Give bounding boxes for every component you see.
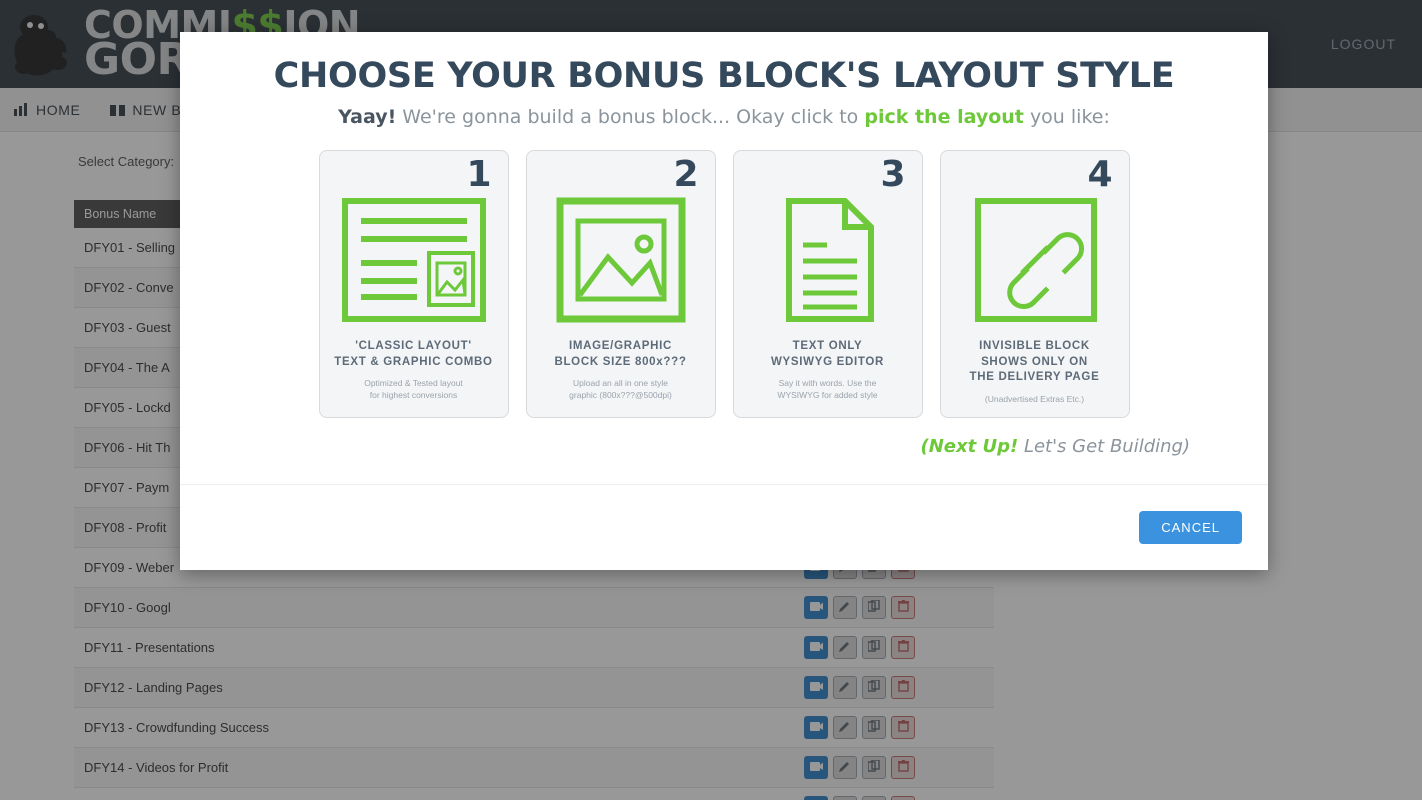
- card-title-line1: TEXT ONLY: [771, 339, 884, 355]
- subtitle-end: you like:: [1030, 106, 1110, 128]
- classic-layout-icon: [339, 195, 489, 325]
- modal-footer: CANCEL: [180, 484, 1268, 570]
- invisible-link-icon: [960, 195, 1110, 325]
- card-desc-line2: graphic (800x???@500dpi): [569, 390, 672, 402]
- card-number-3: 3: [880, 157, 905, 193]
- card-title-line2: TEXT & GRAPHIC COMBO: [334, 355, 492, 371]
- text-document-icon: [753, 195, 903, 325]
- card-desc-classic: Optimized & Tested layout for highest co…: [364, 378, 463, 402]
- card-desc-text-only: Say it with words. Use the WYSIWYG for a…: [777, 378, 877, 402]
- card-title-line2: BLOCK SIZE 800x???: [554, 355, 686, 371]
- next-up-green: (Next Up!: [921, 436, 1019, 457]
- layout-option-invisible-block[interactable]: 4 INVISIBLE BLOCK SHOWS ONLY ON THE DELI…: [940, 150, 1130, 418]
- app-root: COMMI$$ION GORILLA LOGOUT HOME: [0, 0, 1422, 800]
- cancel-button[interactable]: CANCEL: [1139, 511, 1242, 544]
- card-desc-line1: Say it with words. Use the: [777, 378, 877, 390]
- card-title-line2: WYSIWYG EDITOR: [771, 355, 884, 371]
- card-desc-line2: for highest conversions: [364, 390, 463, 402]
- next-up-rest: Let's Get Building): [1024, 436, 1190, 457]
- card-title-invisible-block: INVISIBLE BLOCK SHOWS ONLY ON THE DELIVE…: [970, 339, 1100, 386]
- modal-body: CHOOSE YOUR BONUS BLOCK'S LAYOUT STYLE Y…: [180, 32, 1268, 457]
- subtitle-yaay: Yaay!: [338, 106, 396, 128]
- modal-subtitle: Yaay! We're gonna build a bonus block...…: [214, 106, 1234, 128]
- card-title-classic: 'CLASSIC LAYOUT' TEXT & GRAPHIC COMBO: [334, 339, 492, 370]
- card-desc-line1: Upload an all in one style: [569, 378, 672, 390]
- card-title-line1: 'CLASSIC LAYOUT': [334, 339, 492, 355]
- card-desc-line1: Optimized & Tested layout: [364, 378, 463, 390]
- card-number-4: 4: [1087, 157, 1112, 193]
- image-graphic-icon: [546, 195, 696, 325]
- modal-title: CHOOSE YOUR BONUS BLOCK'S LAYOUT STYLE: [214, 56, 1234, 96]
- card-number-1: 1: [466, 157, 491, 193]
- card-desc-line1: (Unadvertised Extras Etc.): [985, 394, 1084, 406]
- next-up-hint: (Next Up! Let's Get Building): [214, 418, 1234, 457]
- subtitle-mid: We're gonna build a bonus block... Okay …: [402, 106, 858, 128]
- layout-option-classic[interactable]: 1: [319, 150, 509, 418]
- card-title-text-only: TEXT ONLY WYSIWYG EDITOR: [771, 339, 884, 370]
- layout-option-text-only[interactable]: 3 TEXT ONLY: [733, 150, 923, 418]
- layout-option-cards: 1: [214, 150, 1234, 418]
- card-title-line2: SHOWS ONLY ON: [970, 355, 1100, 371]
- card-title-line1: INVISIBLE BLOCK: [970, 339, 1100, 355]
- card-title-image-graphic: IMAGE/GRAPHIC BLOCK SIZE 800x???: [554, 339, 686, 370]
- card-desc-invisible-block: (Unadvertised Extras Etc.): [985, 394, 1084, 406]
- subtitle-green-phrase: pick the layout: [864, 106, 1024, 128]
- card-title-line3: THE DELIVERY PAGE: [970, 370, 1100, 386]
- card-number-2: 2: [673, 157, 698, 193]
- layout-style-modal: CHOOSE YOUR BONUS BLOCK'S LAYOUT STYLE Y…: [180, 32, 1268, 570]
- card-desc-image-graphic: Upload an all in one style graphic (800x…: [569, 378, 672, 402]
- layout-option-image-graphic[interactable]: 2 IMAGE/GRAPHIC BLOCK SIZE 800x???: [526, 150, 716, 418]
- card-desc-line2: WYSIWYG for added style: [777, 390, 877, 402]
- card-title-line1: IMAGE/GRAPHIC: [554, 339, 686, 355]
